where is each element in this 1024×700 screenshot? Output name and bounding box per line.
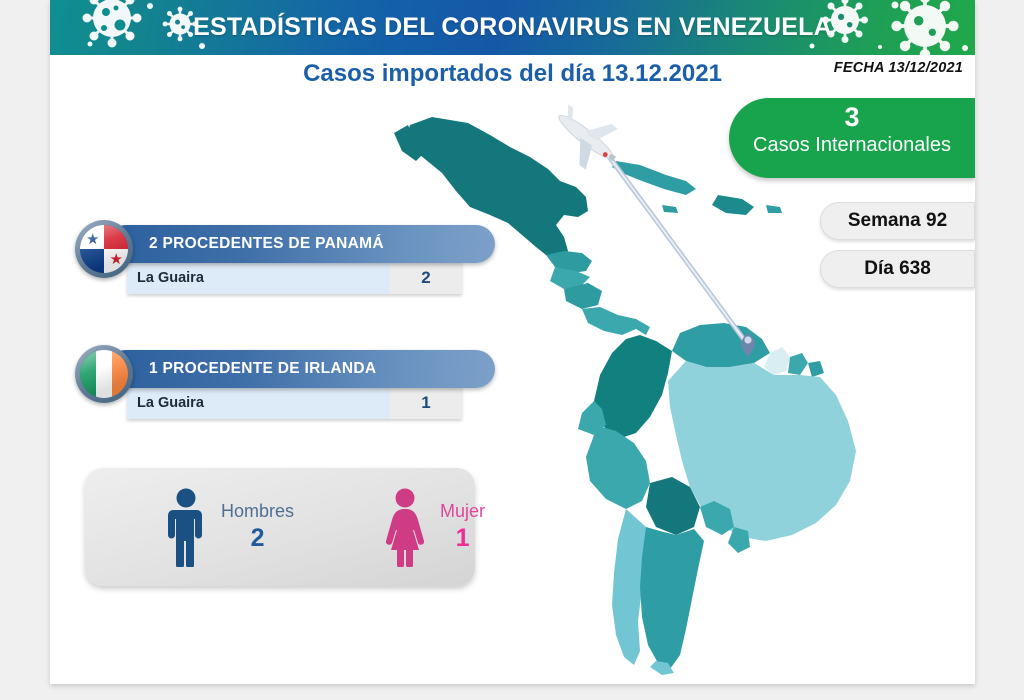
gender-breakdown-panel: Hombres 2 Mujer 1 [85, 468, 475, 586]
origin-place-value: 2 [390, 261, 462, 294]
origin-title-panama: 2 PROCEDENTES DE PANAMÁ [107, 225, 495, 263]
women-label: Mujer [440, 501, 485, 523]
men-label: Hombres [221, 501, 294, 523]
international-cases-label: Casos Internacionales [729, 133, 975, 158]
origin-place-name: La Guaira [127, 386, 390, 419]
women-count: 1 [440, 523, 485, 553]
day-chip: Día 638 [820, 250, 975, 288]
international-cases-badge: 3 Casos Internacionales [729, 98, 975, 178]
panama-flag-icon: ★ ★ [75, 220, 133, 278]
male-figure-icon [163, 487, 209, 567]
page-title: ESTADÍSTICAS DEL CORONAVIRUS EN VENEZUEL… [50, 0, 975, 55]
gender-group-women: Mujer 1 [382, 487, 485, 567]
female-figure-icon [382, 487, 428, 567]
gender-group-men: Hombres 2 [163, 487, 294, 567]
men-count: 2 [221, 523, 294, 553]
infographic-screenshot: ESTADÍSTICAS DEL CORONAVIRUS EN VENEZUEL… [0, 0, 1024, 700]
international-cases-count: 3 [729, 103, 975, 133]
date-label: FECHA 13/12/2021 [834, 60, 963, 76]
table-row: La Guaira 2 [127, 261, 462, 294]
origin-place-name: La Guaira [127, 261, 390, 294]
table-row: La Guaira 1 [127, 386, 462, 419]
origin-title-ireland: 1 PROCEDENTE DE IRLANDA [107, 350, 495, 388]
content-sheet: ESTADÍSTICAS DEL CORONAVIRUS EN VENEZUEL… [50, 0, 975, 684]
week-chip: Semana 92 [820, 202, 975, 240]
origin-place-value: 1 [390, 386, 462, 419]
header-banner: ESTADÍSTICAS DEL CORONAVIRUS EN VENEZUEL… [50, 0, 975, 55]
ireland-flag-icon [75, 345, 133, 403]
